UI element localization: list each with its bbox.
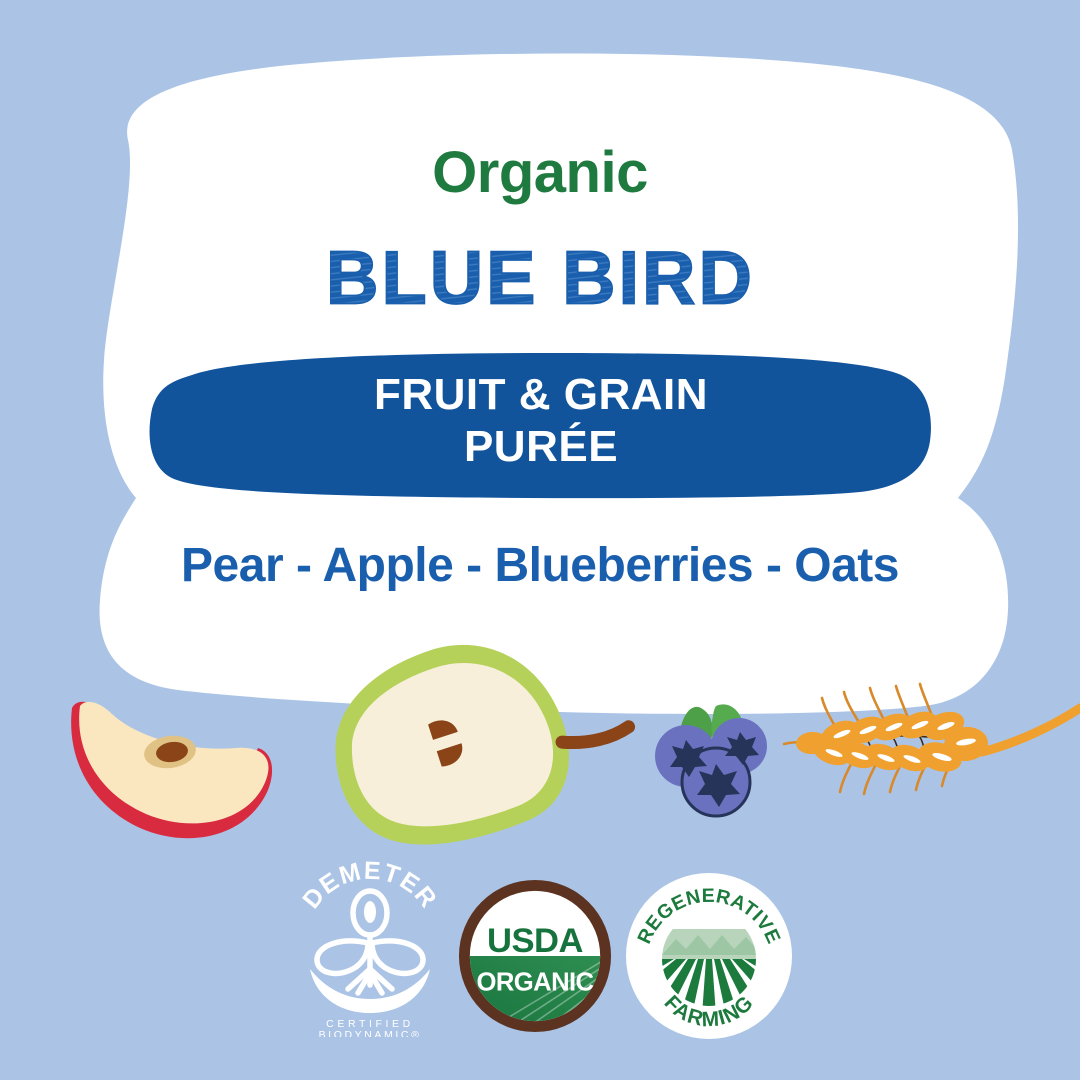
apple-slice-illustration (71, 702, 272, 838)
pear-half-illustration (310, 599, 647, 873)
wheat-stalk-illustration (784, 684, 1080, 794)
usda-line-1: USDA (487, 922, 583, 960)
blueberries-illustration (655, 704, 767, 816)
demeter-plant-mark-icon (317, 891, 423, 993)
usda-organic-badge-graphic: USDA ORGANIC (456, 877, 614, 1035)
product-type-banner: FRUIT & GRAIN PURÉE (148, 341, 934, 501)
organic-eyebrow-text: Organic (0, 139, 1080, 206)
demeter-badge-graphic: DEMETER CERTIFIED BIODYNAMIC® (290, 857, 450, 1037)
banner-line-1: FRUIT & GRAIN (374, 369, 708, 421)
demeter-line-2: BIODYNAMIC® (319, 1029, 422, 1037)
ingredients-list-text: Pear - Apple - Blueberries - Oats (0, 538, 1080, 593)
regenerative-farming-badge-graphic: REGENERATIVE FARMING (626, 873, 792, 1039)
banner-line-2: PURÉE (464, 421, 618, 473)
brand-name-sketch-text: BLUE BIRD (330, 234, 750, 318)
usda-organic-badge: USDA ORGANIC (456, 877, 614, 1035)
wheat-stem-shape (982, 708, 1080, 752)
demeter-badge: DEMETER CERTIFIED BIODYNAMIC® (290, 857, 450, 1037)
brand-name-wordmark: BLUE BIRD (0, 234, 1080, 318)
regenerative-farming-badge: REGENERATIVE FARMING (626, 873, 792, 1039)
usda-line-2: ORGANIC (476, 969, 593, 997)
certification-badge-row: DEMETER CERTIFIED BIODYNAMIC® (0, 855, 1080, 1040)
brand-name-glyphs: BLUE BIRD (330, 235, 750, 318)
pear-stem-shape (562, 721, 630, 751)
package-label-artwork: Organic BLUE BIRD FRUIT & GRAIN PURÉE (0, 0, 1080, 1080)
banner-text-group: FRUIT & GRAIN PURÉE (148, 341, 934, 501)
